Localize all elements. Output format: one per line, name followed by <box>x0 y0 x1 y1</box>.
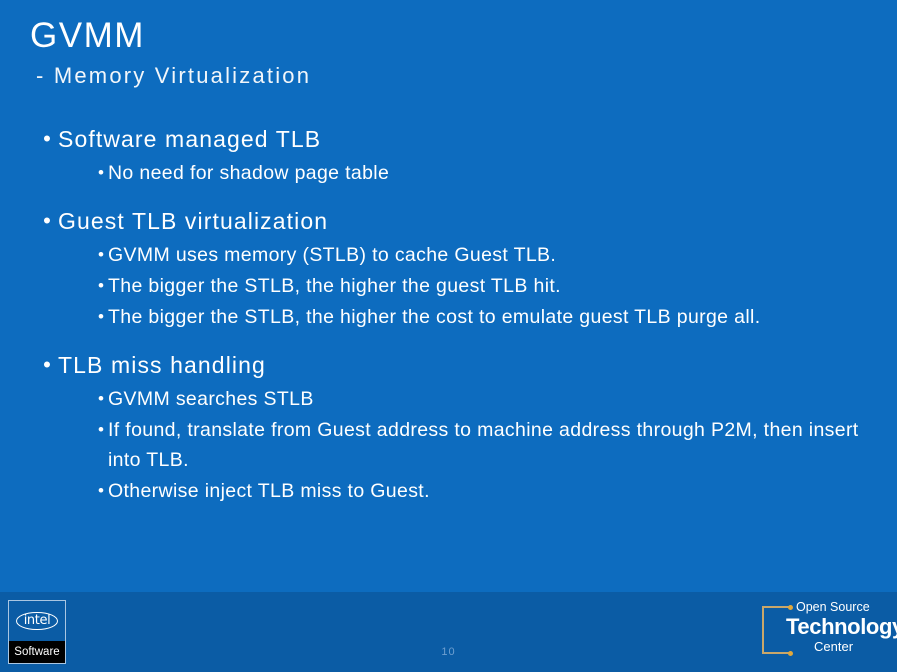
intel-software-label: Software <box>14 646 59 658</box>
bullet-marker-icon: • <box>94 302 108 332</box>
bullet-marker-icon: • <box>36 348 58 382</box>
bullet-level1: • TLB miss handling <box>30 348 866 382</box>
bullet-level2-text: Otherwise inject TLB miss to Guest. <box>108 476 430 506</box>
intel-logo-top: intel <box>9 601 65 641</box>
ostc-line-center: Center <box>814 639 890 654</box>
bullet-level2-list: • No need for shadow page table <box>30 158 866 188</box>
bullet-level2-text: The bigger the STLB, the higher the cost… <box>108 302 760 332</box>
bullet-marker-icon: • <box>94 415 108 445</box>
bullet-marker-icon: • <box>94 271 108 301</box>
bullet-group: • TLB miss handling • GVMM searches STLB… <box>30 348 866 506</box>
bullet-level1-text: Software managed TLB <box>58 122 321 156</box>
bullet-level1-text: Guest TLB virtualization <box>58 204 328 238</box>
bullet-level2: • GVMM uses memory (STLB) to cache Guest… <box>30 240 866 270</box>
page-subtitle: - Memory Virtualization <box>36 63 870 89</box>
bullet-marker-icon: • <box>94 476 108 506</box>
bullet-level1-text: TLB miss handling <box>58 348 266 382</box>
bullet-level2: • If found, translate from Guest address… <box>30 415 866 475</box>
bullet-level2: • The bigger the STLB, the higher the co… <box>30 302 866 332</box>
bullet-level2: • No need for shadow page table <box>30 158 866 188</box>
intel-wordmark-icon: intel <box>16 612 59 631</box>
bullet-marker-icon: • <box>36 204 58 238</box>
intel-logo-bottom: Software <box>9 641 65 663</box>
ostc-line-technology: Technology <box>786 615 890 639</box>
intel-software-logo: intel Software <box>8 600 66 664</box>
bullet-level2-text: The bigger the STLB, the higher the gues… <box>108 271 561 301</box>
bullet-level2-text: If found, translate from Guest address t… <box>108 415 866 475</box>
bullet-level2-text: GVMM uses memory (STLB) to cache Guest T… <box>108 240 556 270</box>
ostc-text-block: Open Source Technology Center <box>786 600 890 654</box>
ostc-line-open-source: Open Source <box>796 600 890 615</box>
bullet-level2: • The bigger the STLB, the higher the gu… <box>30 271 866 301</box>
bullet-marker-icon: • <box>94 240 108 270</box>
bullet-level1: • Software managed TLB <box>30 122 866 156</box>
bullet-level1: • Guest TLB virtualization <box>30 204 866 238</box>
title-block: GVMM - Memory Virtualization <box>30 18 870 89</box>
bullet-marker-icon: • <box>94 384 108 414</box>
body-content: • Software managed TLB • No need for sha… <box>30 122 866 507</box>
slide-canvas: GVMM - Memory Virtualization • Software … <box>0 0 897 672</box>
bullet-marker-icon: • <box>94 158 108 188</box>
bullet-marker-icon: • <box>36 122 58 156</box>
bullet-level2-text: GVMM searches STLB <box>108 384 314 414</box>
ostc-logo: Open Source Technology Center <box>760 600 890 662</box>
page-title: GVMM <box>30 18 870 55</box>
bullet-group: • Guest TLB virtualization • GVMM uses m… <box>30 204 866 332</box>
bullet-level2-text: No need for shadow page table <box>108 158 389 188</box>
bullet-level2-list: • GVMM searches STLB • If found, transla… <box>30 384 866 506</box>
bullet-group: • Software managed TLB • No need for sha… <box>30 122 866 188</box>
bullet-level2-list: • GVMM uses memory (STLB) to cache Guest… <box>30 240 866 332</box>
bracket-vertical-line <box>762 606 764 654</box>
bullet-level2: • Otherwise inject TLB miss to Guest. <box>30 476 866 506</box>
bullet-level2: • GVMM searches STLB <box>30 384 866 414</box>
